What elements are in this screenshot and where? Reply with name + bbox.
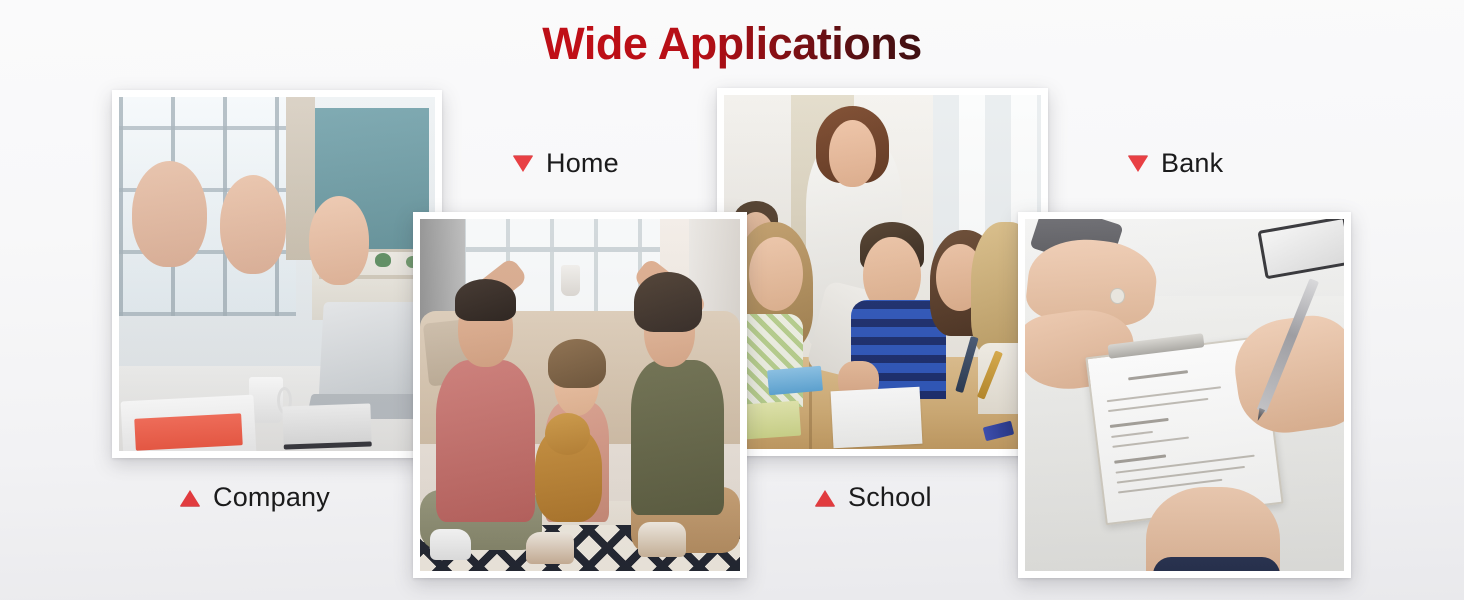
person-father-hair <box>455 279 516 321</box>
triangle-down-icon <box>513 156 533 172</box>
vase-icon <box>561 265 580 297</box>
notebook-icon <box>283 403 373 445</box>
photo-card-home <box>413 212 747 578</box>
sneaker-icon <box>430 529 472 561</box>
person-young-man-head <box>220 175 286 274</box>
document-heading-line <box>1129 370 1188 380</box>
home-window-frame <box>462 247 660 252</box>
photo-card-bank <box>1018 212 1351 578</box>
worksheet-paper-icon <box>830 387 922 448</box>
triangle-up-icon <box>180 490 200 506</box>
document-text-line <box>1112 436 1188 447</box>
triangle-up-icon <box>815 490 835 506</box>
label-bank: Bank <box>1128 148 1223 179</box>
document-subheading-line <box>1114 454 1166 463</box>
triangle-down-icon <box>1128 156 1148 172</box>
photo-company-image <box>119 97 435 451</box>
page-title: Wide Applications <box>0 18 1464 70</box>
person-teacher-head <box>829 120 877 187</box>
sleeve-navy <box>1153 557 1281 571</box>
person-father-body <box>436 360 535 522</box>
photo-card-company <box>112 90 442 458</box>
label-company: Company <box>180 482 330 513</box>
label-home: Home <box>513 148 619 179</box>
photo-bank-image <box>1025 219 1344 571</box>
label-company-text: Company <box>213 482 330 513</box>
person-mother-body <box>631 360 724 515</box>
teddy-bear-head <box>545 413 590 455</box>
document-subheading-line <box>1110 417 1169 427</box>
sneaker-icon <box>526 532 574 564</box>
person-child-hair <box>548 339 606 388</box>
label-bank-text: Bank <box>1161 148 1223 179</box>
person-mother-hair <box>634 272 701 332</box>
label-school-text: School <box>848 482 932 513</box>
sneaker-icon <box>638 522 686 557</box>
red-folder-icon <box>134 413 243 450</box>
photo-home-image <box>420 219 740 571</box>
person-girl-left-head <box>749 237 803 311</box>
label-home-text: Home <box>546 148 619 179</box>
photo-school-image <box>724 95 1041 449</box>
label-school: School <box>815 482 932 513</box>
wide-applications-banner: Wide Applications <box>0 0 1464 600</box>
person-woman-head <box>309 196 369 285</box>
plant-icon <box>375 253 391 267</box>
person-senior-man-head <box>132 161 208 267</box>
photo-card-school <box>717 88 1048 456</box>
document-text-line <box>1111 431 1153 438</box>
book-icon <box>767 365 823 394</box>
